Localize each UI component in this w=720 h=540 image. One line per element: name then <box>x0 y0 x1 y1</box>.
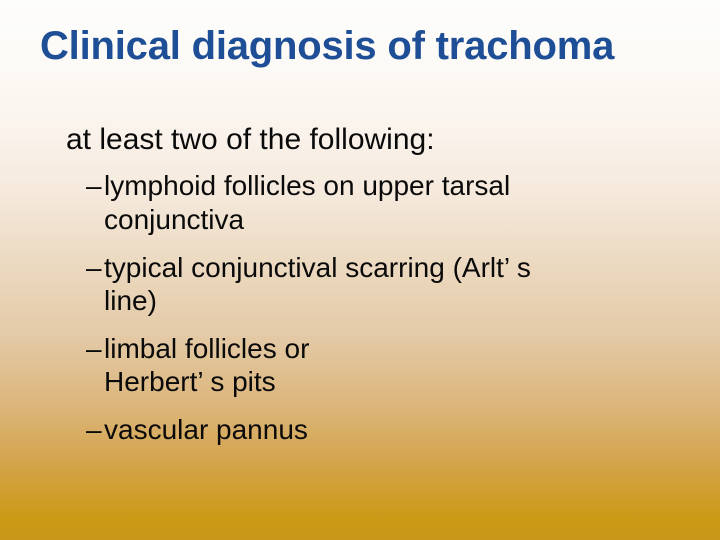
list-item-label: lymphoid follicles on upper tarsal conju… <box>104 169 680 236</box>
list-item-label: limbal follicles or Herbert’ s pits <box>104 332 680 399</box>
list-item-label: vascular pannus <box>104 413 680 447</box>
dash-marker-icon: – <box>86 332 102 366</box>
slide-canvas: Clinical diagnosis of trachoma at least … <box>0 0 720 540</box>
dash-marker-icon: – <box>86 413 102 447</box>
bullet-list: – lymphoid follicles on upper tarsal con… <box>0 169 720 446</box>
slide-title: Clinical diagnosis of trachoma <box>40 24 700 69</box>
dash-marker-icon: – <box>86 251 102 285</box>
slide-body: at least two of the following: – lymphoi… <box>0 122 720 447</box>
list-item: – limbal follicles or Herbert’ s pits <box>0 332 720 399</box>
list-item: – lymphoid follicles on upper tarsal con… <box>0 169 720 236</box>
dash-marker-icon: – <box>86 169 102 203</box>
list-item: – vascular pannus <box>0 413 720 447</box>
intro-text: at least two of the following: <box>0 122 720 157</box>
list-item-label: typical conjunctival scarring (Arlt’ s l… <box>104 251 680 318</box>
list-item: – typical conjunctival scarring (Arlt’ s… <box>0 251 720 318</box>
